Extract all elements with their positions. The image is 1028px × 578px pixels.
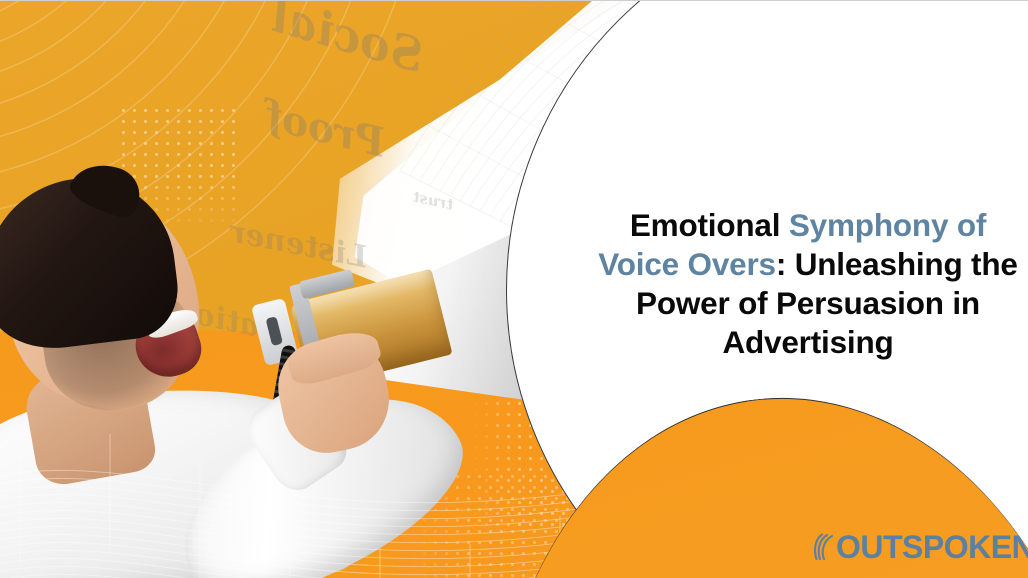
page-title: Emotional Symphony of Voice Overs: Unlea… xyxy=(596,206,1020,362)
signal-waves-icon xyxy=(812,532,838,562)
promo-banner: Social Proof Listener Advocation trust xyxy=(0,0,1028,578)
whiteboard-word-proof: Proof xyxy=(261,92,390,167)
outspoken-logo[interactable]: OUTSPOKEN xyxy=(812,531,1028,563)
title-part-1: Emotional xyxy=(630,207,789,243)
logo-wordmark: OUTSPOKEN xyxy=(836,531,1028,563)
hair xyxy=(0,168,183,356)
